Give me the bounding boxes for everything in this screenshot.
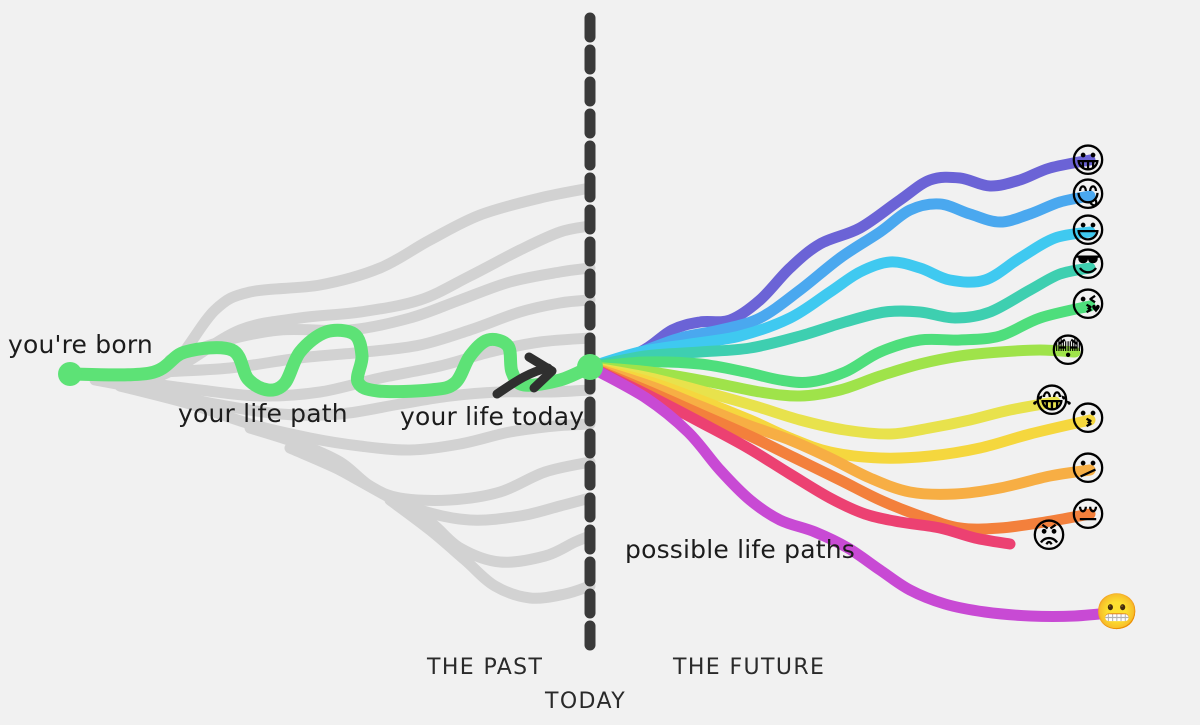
past-alternate-paths-group: [70, 188, 590, 598]
label-your-life-path: your life path: [178, 399, 348, 428]
emoji-flushed-face: 😳: [1050, 335, 1087, 370]
emoji-grinning-face-big-eyes: 😃: [1070, 215, 1107, 250]
diagram-canvas: [0, 0, 1200, 725]
branch-node: [577, 354, 603, 380]
emoji-disappointed-face: 😔: [1070, 499, 1107, 534]
birth-node: [58, 362, 82, 386]
path-past-8: [250, 428, 590, 500]
emoji-confused-face: 😕: [1070, 453, 1107, 488]
emoji-grinning-face: 😀: [1070, 145, 1107, 180]
label-the-future: THE FUTURE: [673, 655, 825, 680]
emoji-face-with-tears-of-joy: 😂: [1032, 385, 1073, 420]
emoji-smiling-face-with-sunglasses: 😎: [1070, 249, 1107, 284]
label-your-life-today: your life today: [400, 402, 584, 431]
emoji-face-savoring-food: 😋: [1070, 179, 1107, 214]
label-possible-life-paths: possible life paths: [625, 535, 855, 564]
emoji-grimacing-face: 😬: [1095, 596, 1139, 631]
emoji-kissing-face: 😗: [1070, 403, 1107, 438]
label-today: TODAY: [545, 689, 626, 714]
life-paths-diagram: 😀😋😃😎😘😳😂😗😕😔😡😬 you're born your life path …: [0, 0, 1200, 725]
label-the-past: THE PAST: [427, 655, 543, 680]
emoji-pouting-face: 😡: [1031, 520, 1068, 555]
emoji-face-blowing-a-kiss: 😘: [1070, 289, 1107, 324]
label-youre-born: you're born: [8, 330, 153, 359]
